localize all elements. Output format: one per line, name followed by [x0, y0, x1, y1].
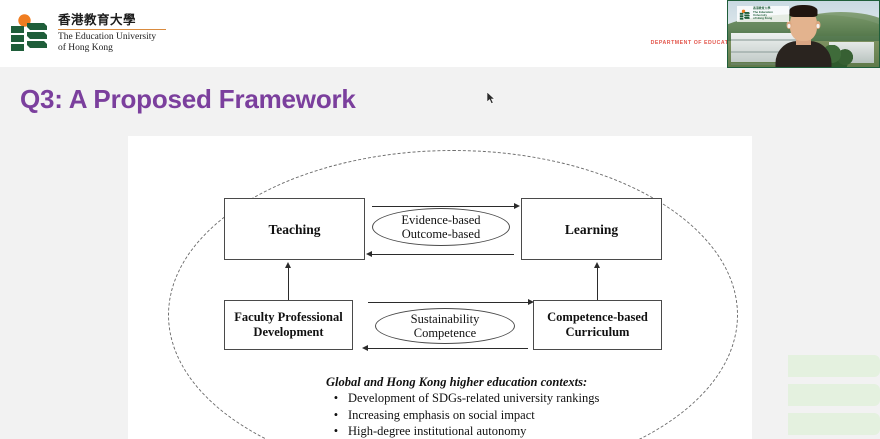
arrow-fpd-to-curriculum-line: [368, 302, 528, 303]
arrow-fpd-to-curriculum-head: [528, 299, 534, 305]
diagram-node-fpd-label-line2: Development: [234, 325, 342, 340]
arrow-curriculum-to-fpd-head: [362, 345, 368, 351]
diagram-oval-evidence-outcome-based: Evidence-based Outcome-based: [372, 208, 510, 246]
presenter-video-tile[interactable]: 香港教育大學 The Education University of Hong …: [727, 0, 880, 68]
arrow-teaching-to-learning-head: [514, 203, 520, 209]
diagram-node-faculty-professional-development: Faculty Professional Development: [224, 300, 353, 350]
video-watermark-logo: 香港教育大學 The Education University of Hong …: [737, 6, 789, 22]
diagram-node-curriculum-label-line2: Curriculum: [547, 325, 648, 340]
mouse-cursor-icon: [487, 92, 496, 105]
diagram-context-bullet: • Development of SDGs-related university…: [332, 390, 648, 407]
arrow-learning-to-teaching-head: [366, 251, 372, 257]
diagram-context-bullet-text: Increasing emphasis on social impact: [348, 407, 535, 424]
framework-diagram-panel: Teaching Learning Faculty Professional D…: [128, 136, 752, 439]
presenter-hair: [790, 5, 818, 17]
diagram-node-curriculum-label-line1: Competence-based: [547, 310, 648, 325]
brand-divider-rule: [58, 29, 166, 30]
arrow-fpd-to-teaching-line: [288, 268, 289, 300]
decorative-bar: [788, 413, 880, 435]
diagram-context-bullet: • Increasing emphasis on social impact: [332, 407, 648, 424]
diagram-context-bullet: • High-degree institutional autonomy: [332, 423, 648, 439]
diagram-context-heading: Global and Hong Kong higher education co…: [326, 374, 648, 390]
arrow-curriculum-to-learning-line: [597, 268, 598, 300]
decorative-logo-motif: [784, 347, 880, 439]
diagram-node-competence-based-curriculum: Competence-based Curriculum: [533, 300, 662, 350]
diagram-node-teaching: Teaching: [224, 198, 365, 260]
diagram-oval-sustainability-competence: Sustainability Competence: [375, 308, 515, 344]
diagram-node-teaching-label: Teaching: [268, 222, 320, 237]
arrow-fpd-to-teaching-head: [285, 262, 291, 268]
diagram-context-block: Global and Hong Kong higher education co…: [318, 374, 648, 439]
bullet-marker-icon: •: [332, 407, 340, 424]
brand-name-english-line2: of Hong Kong: [58, 43, 228, 54]
diagram-node-fpd-label-line1: Faculty Professional: [234, 310, 342, 325]
diagram-node-learning: Learning: [521, 198, 662, 260]
presenter-earbud-right: [817, 24, 820, 28]
arrow-learning-to-teaching-line: [372, 254, 514, 255]
bullet-marker-icon: •: [332, 423, 340, 439]
arrow-curriculum-to-fpd-line: [368, 348, 528, 349]
bullet-marker-icon: •: [332, 390, 340, 407]
diagram-context-bullet-text: High-degree institutional autonomy: [348, 423, 526, 439]
brand-name-english-line1: The Education University: [58, 32, 228, 43]
diagram-oval-evidence-line2: Outcome-based: [402, 227, 480, 241]
diagram-oval-sustainability-line2: Competence: [414, 326, 476, 340]
arrow-curriculum-to-learning-head: [594, 262, 600, 268]
diagram-oval-evidence-line1: Evidence-based: [401, 213, 480, 227]
arrow-teaching-to-learning-line: [372, 206, 514, 207]
decorative-bar: [788, 384, 880, 406]
eduhk-logo-lockup: 香港教育大學 The Education University of Hong …: [8, 12, 228, 60]
watermark-text-english2: of Hong Kong: [753, 17, 787, 20]
watermark-text: 香港教育大學 The Education University of Hong …: [753, 7, 787, 21]
brand-text-block: 香港教育大學 The Education University of Hong …: [58, 13, 228, 53]
eduhk-logo-icon: [8, 12, 52, 56]
brand-name-chinese: 香港教育大學: [58, 13, 228, 27]
decorative-bar: [788, 355, 880, 377]
diagram-node-learning-label: Learning: [565, 222, 618, 237]
presenter-earbud-left: [788, 24, 791, 28]
watermark-logo-icon: [739, 8, 751, 20]
slide-title: Q3: A Proposed Framework: [20, 84, 356, 115]
diagram-oval-sustainability-line1: Sustainability: [411, 312, 480, 326]
diagram-context-bullet-text: Development of SDGs-related university r…: [348, 390, 599, 407]
